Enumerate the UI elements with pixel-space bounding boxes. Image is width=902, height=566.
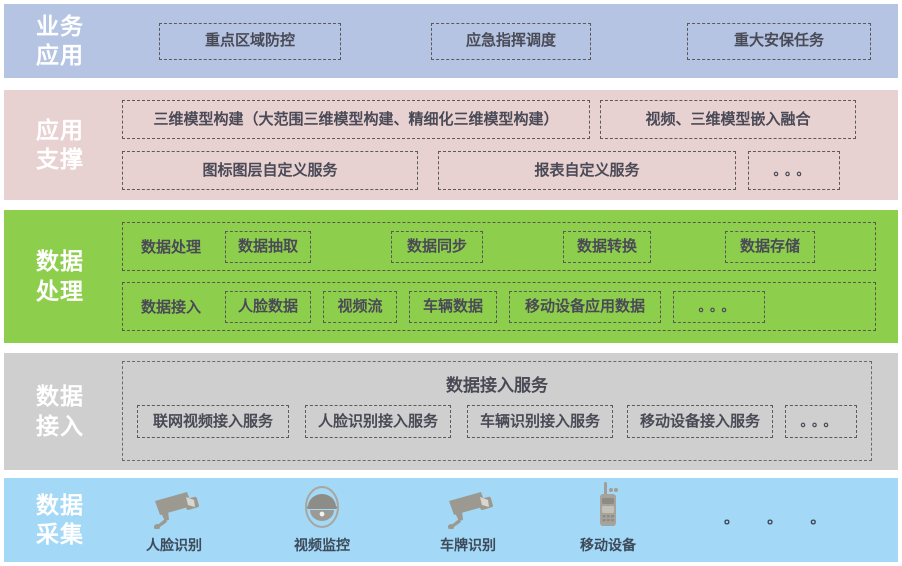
layer-label-line2: 应用 bbox=[36, 41, 84, 70]
layer-label-line2: 采集 bbox=[36, 520, 84, 549]
layer-body-application-support: 三维模型构建（大范围三维模型构建、精细化三维模型构建） 视频、三维模型嵌入融合 … bbox=[116, 90, 898, 200]
layer-label-line1: 业务 bbox=[36, 12, 84, 41]
access-chip-vehicle-recognition-service[interactable]: 车辆识别接入服务 bbox=[467, 405, 613, 438]
collection-item-license-plate-recognition[interactable]: 车牌识别 bbox=[440, 485, 496, 555]
layer-label-line2: 接入 bbox=[36, 412, 84, 441]
cctv-camera-icon bbox=[147, 485, 201, 529]
walkie-talkie-icon bbox=[591, 485, 625, 529]
processing-chip-data-storage[interactable]: 数据存储 bbox=[725, 231, 815, 263]
collection-item-label: 人脸识别 bbox=[146, 535, 202, 555]
access-group-container: 数据接入服务 联网视频接入服务 人脸识别接入服务 车辆识别接入服务 移动设备接入… bbox=[122, 361, 872, 461]
layer-data-processing: 数据 处理 数据处理 数据抽取 数据同步 数据转换 数据存储 数据接入 人脸数据… bbox=[4, 210, 898, 343]
architecture-diagram: 业务 应用 重点区域防控 应急指挥调度 重大安保任务 应用 支撑 三维模型构建（… bbox=[0, 0, 902, 566]
layer-label-data-processing: 数据 处理 bbox=[4, 210, 116, 343]
collection-item-label: 视频监控 bbox=[294, 535, 350, 555]
cctv-camera-icon bbox=[441, 485, 495, 529]
support-box-icon-layer-custom-service[interactable]: 图标图层自定义服务 bbox=[122, 151, 418, 190]
collection-item-video-surveillance[interactable]: 视频监控 bbox=[294, 485, 350, 555]
layer-label-line1: 数据 bbox=[36, 491, 84, 520]
layer-label-application-support: 应用 支撑 bbox=[4, 90, 116, 200]
layer-data-access: 数据 接入 数据接入服务 联网视频接入服务 人脸识别接入服务 车辆识别接入服务 … bbox=[4, 353, 898, 470]
support-row-2: 图标图层自定义服务 报表自定义服务 。。。 bbox=[122, 151, 872, 190]
dome-camera-icon bbox=[299, 485, 345, 529]
layer-label-business-application: 业务 应用 bbox=[4, 4, 116, 78]
layer-body-data-collection: 人脸识别 视频监控 bbox=[116, 478, 898, 562]
access-chip-mobile-device-service[interactable]: 移动设备接入服务 bbox=[627, 405, 773, 438]
business-box-emergency-command[interactable]: 应急指挥调度 bbox=[431, 23, 591, 60]
processing-chip-face-data[interactable]: 人脸数据 bbox=[225, 291, 311, 323]
processing-chip-data-extraction[interactable]: 数据抽取 bbox=[225, 231, 311, 263]
layer-label-data-collection: 数据 采集 bbox=[4, 478, 116, 562]
processing-chip-more[interactable]: 。。。 bbox=[673, 291, 765, 323]
access-chip-more[interactable]: 。。。 bbox=[785, 405, 857, 438]
layer-label-line1: 数据 bbox=[36, 247, 84, 276]
layer-body-business-application: 重点区域防控 应急指挥调度 重大安保任务 bbox=[116, 4, 898, 78]
access-chip-face-recognition-service[interactable]: 人脸识别接入服务 bbox=[305, 405, 451, 438]
collection-item-face-recognition[interactable]: 人脸识别 bbox=[146, 485, 202, 555]
layer-label-line1: 应用 bbox=[36, 116, 84, 145]
layer-business-application: 业务 应用 重点区域防控 应急指挥调度 重大安保任务 bbox=[4, 4, 898, 78]
layer-body-data-access: 数据接入服务 联网视频接入服务 人脸识别接入服务 车辆识别接入服务 移动设备接入… bbox=[116, 353, 898, 470]
support-box-report-custom-service[interactable]: 报表自定义服务 bbox=[438, 151, 736, 190]
layer-label-line1: 数据 bbox=[36, 382, 84, 411]
processing-chip-vehicle-data[interactable]: 车辆数据 bbox=[409, 291, 497, 323]
processing-group-data-processing: 数据处理 数据抽取 数据同步 数据转换 数据存储 bbox=[122, 222, 876, 271]
layer-label-line2: 处理 bbox=[36, 277, 84, 306]
access-chip-networked-video-service[interactable]: 联网视频接入服务 bbox=[137, 405, 289, 438]
support-box-video-3d-fusion[interactable]: 视频、三维模型嵌入融合 bbox=[600, 100, 856, 139]
collection-item-label: 移动设备 bbox=[580, 535, 636, 555]
support-box-more[interactable]: 。。。 bbox=[748, 151, 840, 190]
layer-label-data-access: 数据 接入 bbox=[4, 353, 116, 470]
layer-application-support: 应用 支撑 三维模型构建（大范围三维模型构建、精细化三维模型构建） 视频、三维模… bbox=[4, 90, 898, 200]
support-box-3d-model-construction[interactable]: 三维模型构建（大范围三维模型构建、精细化三维模型构建） bbox=[122, 100, 590, 139]
processing-group-data-ingest: 数据接入 人脸数据 视频流 车辆数据 移动设备应用数据 。。。 bbox=[122, 282, 876, 331]
layer-body-data-processing: 数据处理 数据抽取 数据同步 数据转换 数据存储 数据接入 人脸数据 视频流 车… bbox=[116, 210, 898, 343]
processing-group2-tag: 数据接入 bbox=[131, 296, 211, 317]
collection-item-mobile-device[interactable]: 移动设备 bbox=[580, 485, 636, 555]
layer-data-collection: 数据 采集 bbox=[4, 478, 898, 562]
processing-chip-video-stream[interactable]: 视频流 bbox=[323, 291, 397, 323]
processing-group1-tag: 数据处理 bbox=[131, 236, 211, 257]
access-group-title: 数据接入服务 bbox=[123, 362, 871, 396]
processing-chip-data-sync[interactable]: 数据同步 bbox=[391, 231, 483, 263]
collection-more-dots[interactable]: 。 。 。 bbox=[724, 507, 837, 528]
processing-chip-data-transform[interactable]: 数据转换 bbox=[563, 231, 651, 263]
business-box-key-area-control[interactable]: 重点区域防控 bbox=[159, 23, 341, 60]
layer-label-line2: 支撑 bbox=[36, 145, 84, 174]
processing-chip-mobile-app-data[interactable]: 移动设备应用数据 bbox=[509, 291, 661, 323]
support-row-1: 三维模型构建（大范围三维模型构建、精细化三维模型构建） 视频、三维模型嵌入融合 bbox=[122, 100, 872, 139]
collection-item-label: 车牌识别 bbox=[440, 535, 496, 555]
business-box-major-security-task[interactable]: 重大安保任务 bbox=[687, 23, 871, 60]
